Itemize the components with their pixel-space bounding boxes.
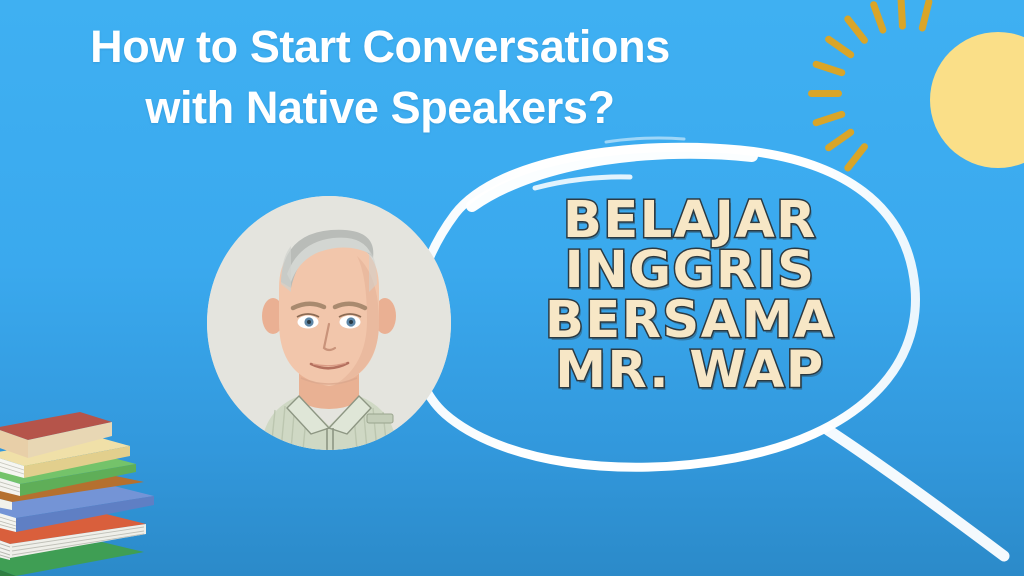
presenter-avatar (207, 196, 451, 450)
headline-line-1: BELAJAR (470, 196, 910, 246)
headline-block: BELAJAR INGGRIS BERSAMA MR. WAP (470, 196, 910, 396)
title-line-2: with Native Speakers? (0, 77, 760, 138)
headline-line-4: MR. WAP (470, 346, 910, 396)
page-title: How to Start Conversations with Native S… (0, 16, 760, 138)
book-stack-illustration (0, 410, 204, 576)
headline-line-2: INGGRIS (470, 246, 910, 296)
thumbnail-canvas: How to Start Conversations with Native S… (0, 0, 1024, 576)
headline-line-3: BERSAMA (470, 296, 910, 346)
title-line-1: How to Start Conversations (0, 16, 760, 77)
